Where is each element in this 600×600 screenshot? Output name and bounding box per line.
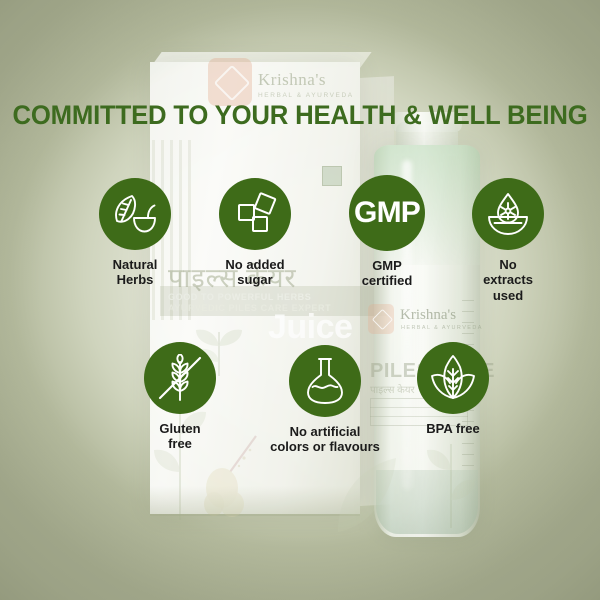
badge-circle <box>289 345 361 417</box>
badge-circle: GMP <box>349 175 425 251</box>
badge-label: GMP certified <box>331 258 443 289</box>
badge-label-line-1: GMP <box>331 258 443 273</box>
badge-circle <box>417 342 489 414</box>
badge-label-line-2: free <box>124 436 236 451</box>
badge-no-artificial-colors[interactable]: No artificial colors or flavours <box>255 345 395 455</box>
badge-label: No artificial colors or flavours <box>255 424 395 455</box>
badge-label-line-2: sugar <box>199 272 311 287</box>
badge-label-line-1: Natural <box>79 257 191 272</box>
badge-label: Gluten free <box>124 421 236 452</box>
badge-circle <box>219 178 291 250</box>
badge-no-added-sugar[interactable]: No added sugar <box>199 178 311 288</box>
leaf-mortar-pestle-icon <box>112 192 158 236</box>
gmp-text-icon: GMP <box>354 196 420 230</box>
badge-label: BPA free <box>397 421 509 436</box>
badge-label-line-2: Herbs <box>79 272 191 287</box>
badge-label-line-1: Gluten <box>124 421 236 436</box>
product-infographic: Krishna's HERBAL & AYURVEDA पाइल्स केयर <box>0 0 600 600</box>
badge-label: Natural Herbs <box>79 257 191 288</box>
badge-gluten-free[interactable]: Gluten free <box>124 342 236 452</box>
page-title: COMMITTED TO YOUR HEALTH & WELL BEING <box>9 100 591 131</box>
badge-circle <box>99 178 171 250</box>
badge-label: No added sugar <box>199 257 311 288</box>
badge-gmp-certified[interactable]: GMP GMP certified <box>331 175 443 289</box>
badge-natural-herbs[interactable]: Natural Herbs <box>79 178 191 288</box>
lab-flask-icon <box>305 357 345 405</box>
badge-bpa-free[interactable]: BPA free <box>397 342 509 436</box>
badge-label-line-1: No artificial <box>255 424 395 439</box>
sugar-cubes-icon <box>233 192 277 236</box>
badge-circle <box>472 178 544 250</box>
badge-label-line-3: used <box>452 288 564 303</box>
badge-label-line-2: certified <box>331 273 443 288</box>
badge-label: No extracts used <box>452 257 564 303</box>
badge-label-line-1: BPA free <box>397 421 509 436</box>
badge-label-line-1: No <box>452 257 564 272</box>
droplet-flower-bowl-icon <box>485 192 531 236</box>
three-leaf-plant-icon <box>429 355 477 401</box>
badge-no-extracts-used[interactable]: No extracts used <box>452 178 564 303</box>
badge-label-line-2: colors or flavours <box>255 439 395 454</box>
badge-label-line-1: No added <box>199 257 311 272</box>
badge-label-line-2: extracts <box>452 272 564 287</box>
badge-circle <box>144 342 216 414</box>
wheat-crossed-icon <box>157 354 203 402</box>
